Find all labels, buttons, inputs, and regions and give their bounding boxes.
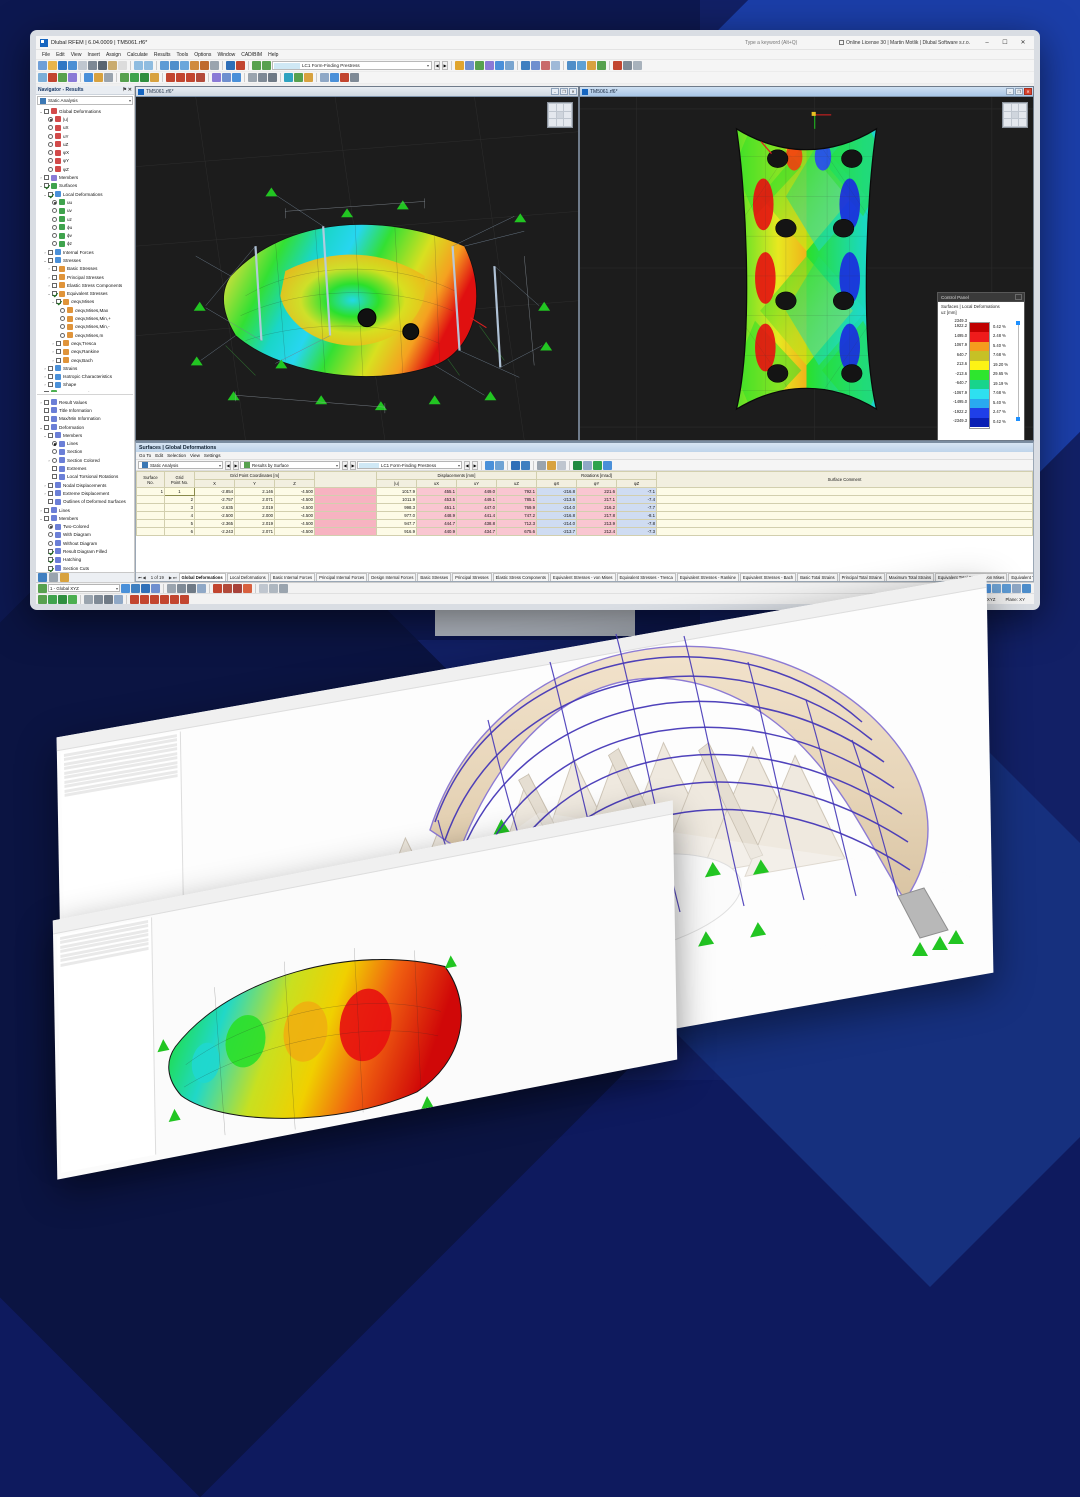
table-cell[interactable]: 2.019: [235, 504, 275, 512]
load-case-next-button[interactable]: ▶: [442, 61, 448, 70]
tree-checkbox[interactable]: [44, 175, 49, 180]
table-cell[interactable]: 769.9: [497, 504, 537, 512]
color-scale-slider[interactable]: [1016, 321, 1020, 421]
snap-object-icon[interactable]: [141, 584, 150, 593]
table-analysis-prev[interactable]: ◀: [225, 461, 231, 470]
tree-node[interactable]: Extremes: [36, 464, 134, 472]
chevron-down-icon[interactable]: ▾: [116, 586, 119, 591]
menu-item-help[interactable]: Help: [265, 52, 281, 58]
display-properties-tree[interactable]: ›Result ValuesTitle InformationMax/Min I…: [36, 397, 134, 572]
undo-icon[interactable]: [134, 61, 143, 70]
material-icon[interactable]: [212, 73, 221, 82]
table-cell[interactable]: 675.6: [497, 528, 537, 536]
fe-mesh-settings-icon[interactable]: [304, 73, 313, 82]
menu-item-tools[interactable]: Tools: [174, 52, 192, 58]
load-case-prev-button[interactable]: ◀: [434, 61, 440, 70]
tree-checkbox[interactable]: [48, 192, 53, 197]
table-results-prev[interactable]: ◀: [342, 461, 348, 470]
table-analysis-next[interactable]: ▶: [233, 461, 239, 470]
cad-polygon-icon[interactable]: [197, 584, 206, 593]
tree-checkbox[interactable]: [48, 483, 53, 488]
cube-face[interactable]: [1019, 104, 1026, 111]
table-cell[interactable]: 977.0: [377, 512, 417, 520]
viewport-right-close[interactable]: ✕: [1024, 88, 1032, 95]
tree-checkbox[interactable]: [48, 250, 53, 255]
report-icon[interactable]: [190, 61, 199, 70]
dim-linear-icon[interactable]: [213, 584, 222, 593]
tree-radio[interactable]: [60, 324, 65, 329]
table-cell[interactable]: 2.146: [235, 488, 275, 496]
menu-item-view[interactable]: View: [68, 52, 85, 58]
tree-checkbox[interactable]: [48, 566, 53, 571]
table-report-icon[interactable]: [557, 461, 566, 470]
table-cell[interactable]: -7.4: [617, 496, 657, 504]
calculate-icon[interactable]: [226, 61, 235, 70]
tree-node[interactable]: ϕv: [36, 231, 134, 239]
render-solid-icon[interactable]: [521, 61, 530, 70]
color-scale-slider-handle-bottom[interactable]: [1016, 417, 1020, 421]
table-cell[interactable]: 217.1: [577, 496, 617, 504]
member-load-icon[interactable]: [176, 73, 185, 82]
tree-node[interactable]: ›Support Reactions: [36, 389, 134, 392]
cube-face[interactable]: [549, 119, 556, 126]
result-type-tab[interactable]: Equivalent Stresses - Tresca: [617, 573, 676, 581]
deformation-display-icon[interactable]: [455, 61, 464, 70]
result-type-tab[interactable]: Basic Stresses: [417, 573, 451, 581]
tree-radio[interactable]: [52, 208, 57, 213]
snap-polar-icon[interactable]: [151, 584, 160, 593]
table-cell[interactable]: 451.1: [417, 504, 457, 512]
result-type-tab[interactable]: Basic Total Strains: [797, 573, 837, 581]
view-front-icon[interactable]: [259, 584, 268, 593]
results-display-icon[interactable]: [465, 61, 474, 70]
table-cell[interactable]: -214.0: [537, 520, 577, 528]
tree-node[interactable]: Lines: [36, 439, 134, 447]
menu-item-results[interactable]: Results: [151, 52, 174, 58]
cube-face-center[interactable]: [557, 112, 564, 119]
table-excel-export-icon[interactable]: [573, 461, 582, 470]
tree-checkbox[interactable]: [48, 549, 53, 554]
table-cell[interactable]: -2.365: [195, 520, 235, 528]
navigator-close-icon[interactable]: ✕: [128, 87, 134, 93]
dim-radial-icon[interactable]: [233, 584, 242, 593]
table-cell[interactable]: 453.5: [417, 496, 457, 504]
result-type-tab[interactable]: Global Deformations: [179, 573, 226, 581]
viewport-left-tab[interactable]: TM5061.rf6* – ❐ ✕: [136, 87, 578, 97]
pan-icon[interactable]: [587, 61, 596, 70]
cube-face[interactable]: [1019, 112, 1026, 119]
tree-checkbox[interactable]: [44, 425, 49, 430]
tree-checkbox[interactable]: [56, 299, 61, 304]
tree-checkbox[interactable]: [56, 358, 61, 363]
surface-icon[interactable]: [84, 73, 93, 82]
tree-node[interactable]: |u|: [36, 115, 134, 123]
table-cell[interactable]: 916.9: [377, 528, 417, 536]
copy-icon[interactable]: [118, 61, 127, 70]
zoom-window-icon[interactable]: [567, 61, 576, 70]
table-cell[interactable]: [315, 504, 377, 512]
table-cell[interactable]: 2.000: [235, 512, 275, 520]
minimize-button[interactable]: –: [978, 36, 996, 49]
visibility-icon[interactable]: [330, 73, 339, 82]
tree-node[interactable]: σeqv,Mises,Min,-: [36, 323, 134, 331]
table-cell[interactable]: [315, 512, 377, 520]
menu-item-insert[interactable]: Insert: [84, 52, 103, 58]
tree-checkbox[interactable]: [48, 491, 53, 496]
results-table-body[interactable]: 11-2.8542.146-4.5001017.9455.1449.0792.1…: [137, 488, 1033, 536]
chevron-down-icon[interactable]: ▾: [427, 63, 431, 68]
tree-checkbox[interactable]: [48, 557, 53, 562]
table-cell[interactable]: 5: [165, 520, 195, 528]
tree-radio[interactable]: [48, 117, 53, 122]
keyword-search-input[interactable]: [743, 39, 835, 47]
load-case-combo[interactable]: LC1 Form-Finding Prestress ▾: [272, 61, 432, 70]
tree-node[interactable]: With Diagram: [36, 531, 134, 539]
table-cell[interactable]: 2.019: [235, 520, 275, 528]
table-cell[interactable]: -2.757: [195, 496, 235, 504]
tree-node[interactable]: uu: [36, 198, 134, 206]
tree-node[interactable]: ›Lines: [36, 506, 134, 514]
table-cell[interactable]: [657, 496, 1033, 504]
move-icon[interactable]: [84, 595, 93, 604]
table-cell[interactable]: [657, 520, 1033, 528]
measure-icon[interactable]: [268, 73, 277, 82]
table-results-next[interactable]: ▶: [350, 461, 356, 470]
cross-section-icon[interactable]: [232, 73, 241, 82]
cube-face-center[interactable]: [1012, 112, 1019, 119]
view-top-icon[interactable]: [269, 584, 278, 593]
hinge-icon[interactable]: [150, 73, 159, 82]
tree-radio[interactable]: [60, 308, 65, 313]
table-cell[interactable]: 434.7: [457, 528, 497, 536]
tree-node[interactable]: ›Shape: [36, 381, 134, 389]
table-cell[interactable]: -2.854: [195, 488, 235, 496]
load-combination-icon[interactable]: [262, 61, 271, 70]
menu-item-options[interactable]: Options: [191, 52, 214, 58]
table-find-icon[interactable]: [485, 461, 494, 470]
table-cell[interactable]: -7.7: [617, 504, 657, 512]
table-cell[interactable]: -216.8: [537, 512, 577, 520]
table-cell[interactable]: -2.635: [195, 504, 235, 512]
result-type-tab[interactable]: Principal Total Strains: [839, 573, 885, 581]
table-cell[interactable]: -213.6: [537, 496, 577, 504]
table-cell[interactable]: -8.1: [617, 512, 657, 520]
document-icon[interactable]: [210, 61, 219, 70]
table-cell[interactable]: -2.500: [195, 512, 235, 520]
table-cell[interactable]: -7.1: [617, 488, 657, 496]
ortho-icon[interactable]: [623, 61, 632, 70]
cube-face[interactable]: [1004, 119, 1011, 126]
text-annotation-icon[interactable]: [258, 73, 267, 82]
load-arrow-4-icon[interactable]: [160, 595, 169, 604]
tree-node[interactable]: uX: [36, 124, 134, 132]
menu-item-assign[interactable]: Assign: [103, 52, 124, 58]
tree-node[interactable]: ⌄Equivalent Stresses: [36, 290, 134, 298]
nodal-support-icon[interactable]: [120, 73, 129, 82]
result-type-tab[interactable]: Equivalent Total Strains - Tresca: [1008, 573, 1033, 581]
result-type-tab[interactable]: Equivalent Stresses - von Mises: [550, 573, 616, 581]
result-type-tab[interactable]: Equivalent Stresses - Bach: [740, 573, 796, 581]
tree-node[interactable]: ›Section Colored: [36, 456, 134, 464]
load-case-icon[interactable]: [252, 61, 261, 70]
snap-grid-icon[interactable]: [121, 584, 130, 593]
table-menu-edit[interactable]: Edit: [155, 453, 163, 458]
cube-face[interactable]: [564, 104, 571, 111]
tree-radio[interactable]: [48, 150, 53, 155]
table-analysis-combo[interactable]: Static Analysis ▾: [138, 461, 223, 469]
table-filter-icon[interactable]: [495, 461, 504, 470]
table-cell[interactable]: -7.3: [617, 528, 657, 536]
result-type-tab[interactable]: Design Internal Forces: [368, 573, 416, 581]
table-cell[interactable]: 1: [137, 488, 165, 496]
table-cell[interactable]: 448.9: [417, 512, 457, 520]
tree-node[interactable]: ›Members: [36, 173, 134, 181]
zoom-all-icon[interactable]: [577, 61, 586, 70]
table-export-icon[interactable]: [521, 461, 530, 470]
tree-checkbox[interactable]: [48, 374, 53, 379]
table-row[interactable]: 5-2.3652.019-4.500947.7444.7438.8712.3-2…: [137, 520, 1033, 528]
tree-node[interactable]: ϕz: [36, 240, 134, 248]
load-arrow-3-icon[interactable]: [150, 595, 159, 604]
clipping-plane-icon[interactable]: [340, 73, 349, 82]
cube-face[interactable]: [557, 104, 564, 111]
surface-load-icon[interactable]: [186, 73, 195, 82]
table-cell[interactable]: 947.7: [377, 520, 417, 528]
tree-checkbox[interactable]: [44, 391, 49, 392]
tree-radio[interactable]: [48, 158, 53, 163]
table-cell[interactable]: 440.9: [417, 528, 457, 536]
table-refresh-icon[interactable]: [593, 461, 602, 470]
coordinate-system-combo[interactable]: 1 - Global XYZ ▾: [48, 584, 120, 592]
tree-node[interactable]: ⌄Surfaces: [36, 182, 134, 190]
select-mode-icon[interactable]: [38, 595, 47, 604]
table-view-icon[interactable]: [160, 61, 169, 70]
table-menu-selection[interactable]: Selection: [167, 453, 186, 458]
cube-face[interactable]: [549, 112, 556, 119]
tree-node[interactable]: σeqv,Mises,Max: [36, 306, 134, 314]
viewport-left-close[interactable]: ✕: [569, 88, 577, 95]
table-row[interactable]: 6-2.2432.071-4.500916.9440.9434.7675.6-2…: [137, 528, 1033, 536]
scale-icon[interactable]: [114, 595, 123, 604]
tree-checkbox[interactable]: [52, 266, 57, 271]
tree-node[interactable]: ›Basic Stresses: [36, 265, 134, 273]
results-table[interactable]: SurfaceNo. GridPoint No. Grid Point Coor…: [136, 471, 1033, 536]
table-cell[interactable]: 216.2: [577, 504, 617, 512]
table-cell[interactable]: -213.7: [537, 528, 577, 536]
tree-checkbox[interactable]: [52, 291, 57, 296]
table-menu-goto[interactable]: Go To: [139, 453, 151, 458]
tree-radio[interactable]: [52, 225, 57, 230]
table-cell[interactable]: 1: [165, 488, 195, 496]
table-cell[interactable]: [315, 520, 377, 528]
snap-ortho-icon[interactable]: [131, 584, 140, 593]
load-arrow-5-icon[interactable]: [170, 595, 179, 604]
tree-radio[interactable]: [48, 134, 53, 139]
tab-results-navigator-icon[interactable]: [38, 573, 47, 582]
save-as-icon[interactable]: [68, 61, 77, 70]
tree-node[interactable]: ›Strains: [36, 364, 134, 372]
tree-checkbox[interactable]: [48, 433, 53, 438]
table-cell[interactable]: 712.3: [497, 520, 537, 528]
printout-icon[interactable]: [200, 61, 209, 70]
menu-item-window[interactable]: Window: [214, 52, 238, 58]
tree-node[interactable]: ⌄Stresses: [36, 256, 134, 264]
table-cell[interactable]: 212.4: [577, 528, 617, 536]
results-tree[interactable]: ⌄Global Deformations|u|uXuYuZφXφYφZ›Memb…: [36, 106, 134, 392]
tree-checkbox[interactable]: [52, 275, 57, 280]
calculate-all-icon[interactable]: [236, 61, 245, 70]
tree-node[interactable]: Section: [36, 448, 134, 456]
tree-checkbox[interactable]: [44, 416, 49, 421]
tree-node[interactable]: ⌄Members: [36, 431, 134, 439]
table-cell[interactable]: 455.1: [417, 488, 457, 496]
tree-node[interactable]: Result Diagram Filled: [36, 547, 134, 555]
table-cell[interactable]: 438.8: [457, 520, 497, 528]
result-type-tab[interactable]: Principal Internal Forces: [316, 573, 367, 581]
viewport-3d-top-view[interactable]: TM5061.rf6* – ❐ ✕: [579, 86, 1034, 441]
tab-next-icon[interactable]: ▶: [169, 575, 172, 580]
table-row[interactable]: 2-2.7572.071-4.5001011.9453.5449.1785.1-…: [137, 496, 1033, 504]
table-row[interactable]: 3-2.6352.019-4.500998.3451.1447.0769.9-2…: [137, 504, 1033, 512]
tree-checkbox[interactable]: [44, 400, 49, 405]
surface-support-icon[interactable]: [140, 73, 149, 82]
tree-radio[interactable]: [48, 125, 53, 130]
cube-face[interactable]: [564, 112, 571, 119]
tree-node[interactable]: uY: [36, 132, 134, 140]
table-cell[interactable]: 441.4: [457, 512, 497, 520]
chevron-down-icon[interactable]: ▾: [129, 98, 132, 103]
cube-face[interactable]: [564, 119, 571, 126]
export-icon[interactable]: [108, 61, 117, 70]
tree-radio[interactable]: [48, 541, 53, 546]
dim-angular-icon[interactable]: [223, 584, 232, 593]
cube-face[interactable]: [1012, 104, 1019, 111]
table-cell[interactable]: 449.1: [457, 496, 497, 504]
tree-node[interactable]: ›Internal Forces: [36, 248, 134, 256]
print-icon[interactable]: [88, 61, 97, 70]
tree-checkbox[interactable]: [48, 258, 53, 263]
viewport-right-minimize[interactable]: –: [1006, 88, 1014, 95]
cube-face[interactable]: [1012, 119, 1019, 126]
table-cell[interactable]: [315, 488, 377, 496]
tree-radio[interactable]: [60, 333, 65, 338]
table-cell[interactable]: [137, 528, 165, 536]
tree-radio[interactable]: [48, 524, 53, 529]
viewport-right-tab[interactable]: TM5061.rf6* – ❐ ✕: [580, 87, 1033, 97]
table-cell[interactable]: -216.8: [537, 488, 577, 496]
color-scale-slider-handle-top[interactable]: [1016, 321, 1020, 325]
tree-node[interactable]: ›Nodal Displacements: [36, 481, 134, 489]
cube-face[interactable]: [1019, 119, 1026, 126]
table-row[interactable]: 11-2.8542.146-4.5001017.9455.1449.0792.1…: [137, 488, 1033, 496]
table-cell[interactable]: 6: [165, 528, 195, 536]
tab-views-navigator-icon[interactable]: [60, 573, 69, 582]
select-arrow-icon[interactable]: [38, 73, 47, 82]
support-reaction-icon[interactable]: [475, 61, 484, 70]
printer-setup-icon[interactable]: [98, 61, 107, 70]
tree-node[interactable]: ⌄Local Deformations: [36, 190, 134, 198]
render-wireframe-icon[interactable]: [531, 61, 540, 70]
table-cell[interactable]: [657, 504, 1033, 512]
view-orientation-cube[interactable]: [547, 102, 573, 128]
table-cell[interactable]: [315, 528, 377, 536]
table-cell[interactable]: -214.0: [537, 504, 577, 512]
table-menu-view[interactable]: View: [190, 453, 200, 458]
table-cell[interactable]: 213.9: [577, 520, 617, 528]
table-cell[interactable]: [657, 528, 1033, 536]
menu-item-cadbim[interactable]: CAD/BIM: [238, 52, 265, 58]
tree-checkbox[interactable]: [52, 283, 57, 288]
viewport-left-minimize[interactable]: –: [551, 88, 559, 95]
chevron-down-icon[interactable]: ▾: [336, 463, 339, 468]
tree-checkbox[interactable]: [56, 341, 61, 346]
viewport-right-canvas[interactable]: Control Panel Surfaces | Local Deformati…: [580, 97, 1033, 440]
table-cell[interactable]: 1017.9: [377, 488, 417, 496]
tab-display-navigator-icon[interactable]: [49, 573, 58, 582]
table-import-icon[interactable]: [511, 461, 520, 470]
tree-radio[interactable]: [60, 316, 65, 321]
tree-radio[interactable]: [52, 200, 57, 205]
table-cell[interactable]: 785.1: [497, 496, 537, 504]
table-cell[interactable]: -4.500: [275, 520, 315, 528]
isoline-icon[interactable]: [485, 61, 494, 70]
table-cell[interactable]: [137, 496, 165, 504]
result-type-tab[interactable]: Basic Internal Forces: [270, 573, 315, 581]
results-table-scroll[interactable]: SurfaceNo. GridPoint No. Grid Point Coor…: [136, 471, 1033, 572]
viewport-right-restore[interactable]: ❐: [1015, 88, 1023, 95]
tree-radio[interactable]: [52, 241, 57, 246]
tree-node[interactable]: ›Isotropic Characteristics: [36, 373, 134, 381]
tree-checkbox[interactable]: [56, 349, 61, 354]
tree-node[interactable]: ⌄Global Deformations: [36, 107, 134, 115]
table-cell[interactable]: [657, 512, 1033, 520]
tree-node[interactable]: ›σeqv,Rankine: [36, 348, 134, 356]
analysis-type-combo[interactable]: Static Analysis ▾: [37, 96, 133, 105]
tree-node[interactable]: σeqv,Mises,m: [36, 331, 134, 339]
table-loadcase-next[interactable]: ▶: [472, 461, 478, 470]
table-loadcase-combo[interactable]: LC1 Form-Finding Prestress ▾: [357, 461, 462, 469]
table-cell[interactable]: 998.3: [377, 504, 417, 512]
tree-radio[interactable]: [52, 458, 57, 463]
maximize-button[interactable]: ☐: [996, 36, 1014, 49]
table-columns-icon[interactable]: [537, 461, 546, 470]
tab-first-icon[interactable]: ⏮: [138, 575, 142, 580]
table-cell[interactable]: 221.6: [577, 488, 617, 496]
tree-checkbox[interactable]: [44, 516, 49, 521]
select-window-icon[interactable]: [48, 595, 57, 604]
member-icon[interactable]: [68, 73, 77, 82]
tree-checkbox[interactable]: [44, 508, 49, 513]
tree-node[interactable]: ›Result Values: [36, 398, 134, 406]
dim-diameter-icon[interactable]: [243, 584, 252, 593]
tab-prev-icon[interactable]: ◀: [143, 575, 146, 580]
nodal-load-icon[interactable]: [166, 73, 175, 82]
tree-node[interactable]: Local Torsional Rotations: [36, 473, 134, 481]
tree-checkbox[interactable]: [44, 408, 49, 413]
tree-node[interactable]: Hatching: [36, 556, 134, 564]
result-type-tab[interactable]: Local Deformations: [227, 573, 269, 581]
thickness-icon[interactable]: [222, 73, 231, 82]
cube-face[interactable]: [549, 104, 556, 111]
tree-node[interactable]: Two-Colored: [36, 522, 134, 530]
print-preview-icon[interactable]: [78, 61, 87, 70]
tree-node[interactable]: ⌄Members: [36, 514, 134, 522]
table-cell[interactable]: 792.1: [497, 488, 537, 496]
rotate-object-icon[interactable]: [94, 595, 103, 604]
tab-last-icon[interactable]: ⏭: [173, 575, 177, 580]
background-toggle-icon[interactable]: [1022, 584, 1031, 593]
grid-view-icon[interactable]: [170, 61, 179, 70]
